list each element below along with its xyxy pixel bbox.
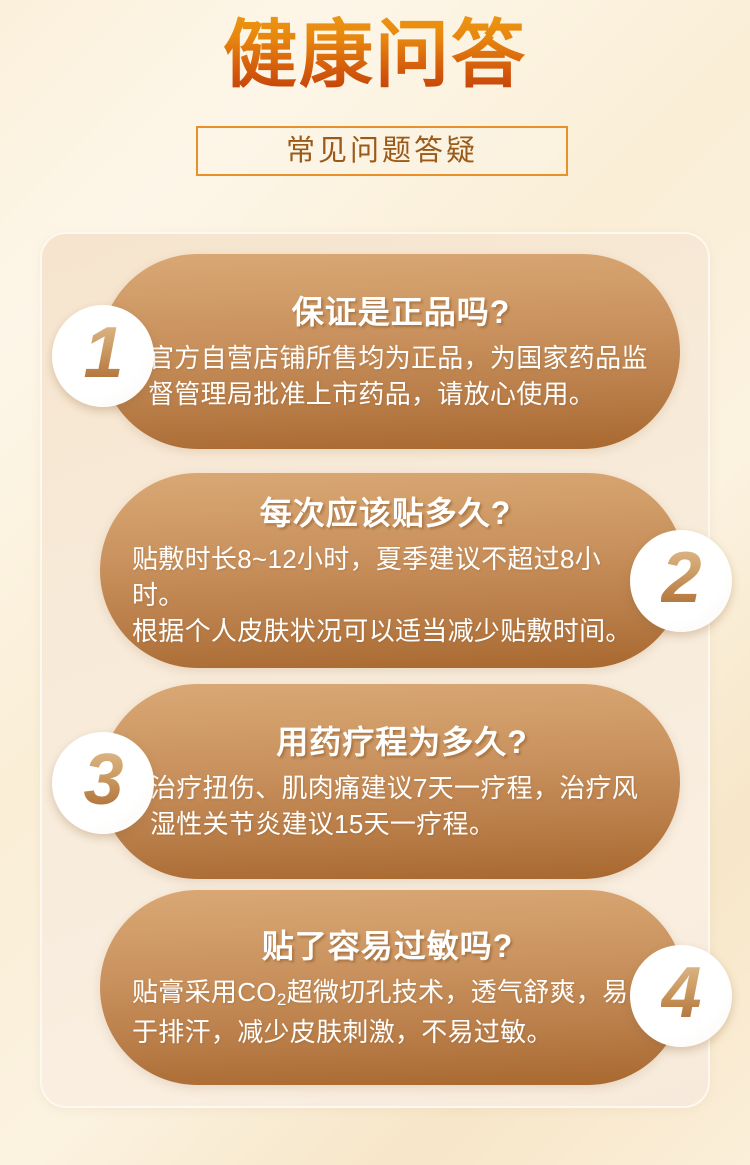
faq-answer-line: 于排汗，减少皮肤刺激，不易过敏。	[132, 1014, 643, 1050]
faq-question: 保证是正品吗?	[148, 292, 654, 332]
faq-number: 2	[661, 542, 700, 614]
faq-number: 4	[661, 957, 700, 1029]
faq-answer-text: 贴膏采用CO	[132, 977, 277, 1007]
faq-question: 贴了容易过敏吗?	[132, 926, 643, 966]
faq-number: 3	[83, 744, 122, 816]
faq-answer-line: 根据个人皮肤状况可以适当减少贴敷时间。	[132, 613, 639, 649]
faq-number-badge: 1	[52, 305, 154, 407]
faq-answer-text: 超微切孔技术，透气舒爽，易	[287, 977, 629, 1007]
faq-page: 健康问答 常见问题答疑 保证是正品吗? 官方自营店铺所售均为正品，为国家药品监 …	[0, 0, 750, 1165]
faq-question: 用药疗程为多久?	[150, 722, 654, 762]
faq-answer-line: 治疗扭伤、肌肉痛建议7天一疗程，治疗风	[150, 770, 654, 806]
faq-question: 每次应该贴多久?	[132, 493, 639, 533]
faq-card-content: 贴了容易过敏吗? 贴膏采用CO2超微切孔技术，透气舒爽，易 于排汗，减少皮肤刺激…	[100, 890, 685, 1085]
page-title: 健康问答	[0, 0, 750, 98]
faq-number-badge: 2	[630, 530, 732, 632]
faq-card-content: 用药疗程为多久? 治疗扭伤、肌肉痛建议7天一疗程，治疗风 湿性关节炎建议15天一…	[100, 684, 680, 879]
faq-answer-line: 贴膏采用CO2超微切孔技术，透气舒爽，易	[132, 974, 643, 1014]
faq-card[interactable]: 每次应该贴多久? 贴敷时长8~12小时，夏季建议不超过8小时。 根据个人皮肤状况…	[100, 473, 685, 668]
page-header: 健康问答	[0, 0, 750, 98]
subtitle-text: 常见问题答疑	[286, 136, 478, 166]
faq-answer: 官方自营店铺所售均为正品，为国家药品监 督管理局批准上市药品，请放心使用。	[148, 340, 654, 412]
faq-answer-line: 湿性关节炎建议15天一疗程。	[150, 806, 654, 842]
subtitle-box: 常见问题答疑	[196, 126, 568, 176]
faq-answer-line: 督管理局批准上市药品，请放心使用。	[148, 376, 654, 412]
faq-card[interactable]: 用药疗程为多久? 治疗扭伤、肌肉痛建议7天一疗程，治疗风 湿性关节炎建议15天一…	[100, 684, 680, 879]
faq-card-content: 保证是正品吗? 官方自营店铺所售均为正品，为国家药品监 督管理局批准上市药品，请…	[100, 254, 680, 449]
faq-card[interactable]: 贴了容易过敏吗? 贴膏采用CO2超微切孔技术，透气舒爽，易 于排汗，减少皮肤刺激…	[100, 890, 685, 1085]
faq-card[interactable]: 保证是正品吗? 官方自营店铺所售均为正品，为国家药品监 督管理局批准上市药品，请…	[100, 254, 680, 449]
faq-card-content: 每次应该贴多久? 贴敷时长8~12小时，夏季建议不超过8小时。 根据个人皮肤状况…	[100, 473, 685, 668]
faq-answer: 贴敷时长8~12小时，夏季建议不超过8小时。 根据个人皮肤状况可以适当减少贴敷时…	[132, 541, 639, 649]
faq-number-badge: 4	[630, 945, 732, 1047]
faq-answer: 治疗扭伤、肌肉痛建议7天一疗程，治疗风 湿性关节炎建议15天一疗程。	[150, 770, 654, 842]
co2-subscript: 2	[277, 990, 287, 1009]
faq-answer: 贴膏采用CO2超微切孔技术，透气舒爽，易 于排汗，减少皮肤刺激，不易过敏。	[132, 974, 643, 1050]
faq-answer-line: 官方自营店铺所售均为正品，为国家药品监	[148, 340, 654, 376]
faq-number-badge: 3	[52, 732, 154, 834]
faq-answer-line: 贴敷时长8~12小时，夏季建议不超过8小时。	[132, 541, 639, 613]
faq-number: 1	[83, 317, 122, 389]
